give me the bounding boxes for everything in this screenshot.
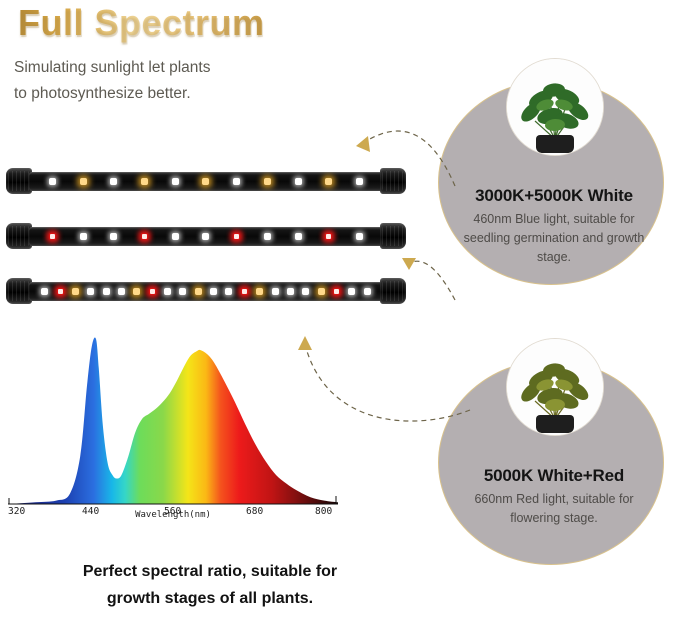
subtitle-line-2: to photosynthesize better. — [14, 81, 354, 107]
led-amber — [318, 288, 325, 295]
led-amber — [256, 288, 263, 295]
spectrum-chart: 320 440 560 680 800 Wavelength(nm) — [8, 330, 338, 530]
page-subtitle: Simulating sunlight let plants to photos… — [14, 55, 354, 107]
arrowhead-top — [356, 136, 370, 152]
callout-body: 660nm Red light, suitable for flowering … — [460, 490, 648, 528]
callout-red: 5000K White+Red 660nm Red light, suitabl… — [438, 338, 670, 570]
led-white — [210, 288, 217, 295]
led-bar-end-cap-right — [380, 278, 406, 304]
led-bar-full-spectrum — [6, 278, 406, 304]
led-white — [287, 288, 294, 295]
page-title: Full Spectrum — [18, 2, 265, 44]
led-amber — [80, 178, 87, 185]
led-red — [333, 288, 340, 295]
callout-body: 460nm Blue light, suitable for seedling … — [460, 210, 648, 267]
led-bar-end-cap-right — [380, 168, 406, 194]
led-red — [57, 288, 64, 295]
led-white — [302, 288, 309, 295]
x-axis-title: Wavelength(nm) — [8, 510, 338, 520]
led-white — [264, 233, 271, 240]
led-white — [348, 288, 355, 295]
led-red — [49, 233, 56, 240]
bottom-caption: Perfect spectral ratio, suitable for gro… — [10, 558, 410, 612]
callout-title: 5000K White+Red — [438, 466, 670, 486]
spectrum-curve — [8, 330, 338, 505]
led-white — [356, 233, 363, 240]
plant-illustration — [507, 59, 603, 155]
led-bar-tube — [29, 227, 383, 246]
led-white — [80, 233, 87, 240]
led-red — [325, 233, 332, 240]
led-amber — [72, 288, 79, 295]
arrowhead-middle — [402, 258, 416, 270]
led-red — [233, 233, 240, 240]
led-white — [225, 288, 232, 295]
led-white — [118, 288, 125, 295]
callout-white: 3000K+5000K White 460nm Blue light, suit… — [438, 58, 670, 290]
led-bar-red-white — [6, 223, 406, 249]
led-white — [364, 288, 371, 295]
plant-photo-warm — [506, 338, 604, 436]
led-bar-end-cap-right — [380, 223, 406, 249]
led-white — [87, 288, 94, 295]
led-bar-tube — [29, 172, 383, 191]
infographic-root: Full Spectrum Full Spectrum Simulating s… — [0, 0, 679, 622]
led-red — [241, 288, 248, 295]
led-white — [356, 178, 363, 185]
led-white — [172, 233, 179, 240]
led-white — [295, 233, 302, 240]
led-white — [272, 288, 279, 295]
led-white — [49, 178, 56, 185]
led-white — [110, 233, 117, 240]
subtitle-line-1: Simulating sunlight let plants — [14, 55, 354, 81]
led-amber — [202, 178, 209, 185]
callout-title: 3000K+5000K White — [438, 186, 670, 206]
led-red — [141, 233, 148, 240]
caption-line-1: Perfect spectral ratio, suitable for — [10, 558, 410, 585]
caption-line-2: growth stages of all plants. — [10, 585, 410, 612]
led-white — [179, 288, 186, 295]
led-bar-tube — [29, 282, 383, 301]
led-white — [41, 288, 48, 295]
led-amber — [141, 178, 148, 185]
plant-illustration — [507, 339, 603, 435]
led-white — [103, 288, 110, 295]
led-white — [233, 178, 240, 185]
led-white — [172, 178, 179, 185]
plant-photo-green — [506, 58, 604, 156]
led-white — [164, 288, 171, 295]
led-amber — [325, 178, 332, 185]
led-bar-warm-white — [6, 168, 406, 194]
led-amber — [195, 288, 202, 295]
led-red — [149, 288, 156, 295]
led-amber — [133, 288, 140, 295]
led-white — [295, 178, 302, 185]
led-amber — [264, 178, 271, 185]
led-white — [110, 178, 117, 185]
led-white — [202, 233, 209, 240]
